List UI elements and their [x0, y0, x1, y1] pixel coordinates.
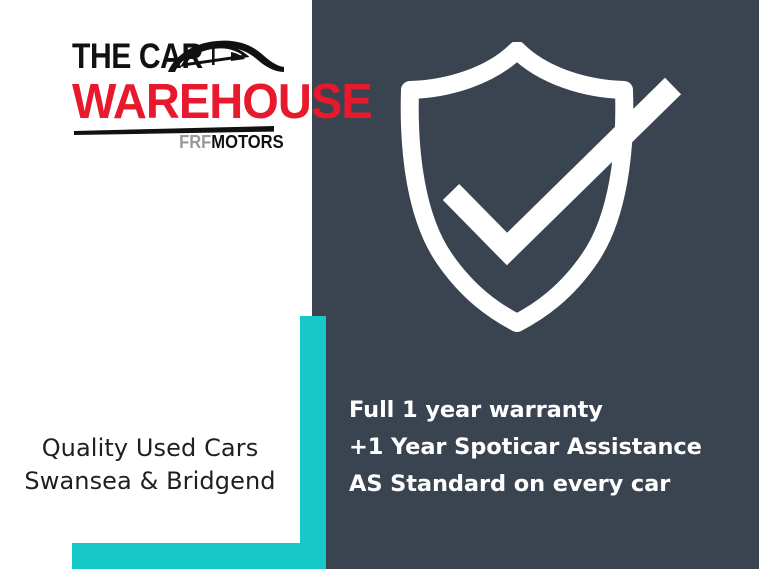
promo-line-3: AS Standard on every car	[349, 466, 749, 503]
logo-motors-text: MOTORS	[212, 132, 284, 152]
logo-top-row: THE CAR	[72, 38, 284, 80]
tagline-block: Quality Used Cars Swansea & Bridgend	[0, 432, 300, 498]
teal-accent-vertical-bar	[300, 316, 326, 569]
tagline-line-2: Swansea & Bridgend	[0, 465, 300, 498]
logo-line-warehouse: WAREHOUSE	[72, 76, 372, 128]
promo-line-1: Full 1 year warranty	[349, 392, 749, 429]
advert-banner: THE CAR WAREHOUSE FRFMOTORS Quality Used…	[0, 0, 759, 569]
promo-line-2: +1 Year Spoticar Assistance	[349, 429, 749, 466]
promo-headline: Full 1 year warranty +1 Year Spoticar As…	[349, 392, 749, 503]
logo-frf-motors: FRFMOTORS	[179, 132, 284, 152]
tagline-line-1: Quality Used Cars	[0, 432, 300, 465]
logo-frf-text: FRF	[179, 132, 211, 152]
brand-logo[interactable]: THE CAR WAREHOUSE FRFMOTORS	[72, 38, 284, 150]
shield-check-icon	[378, 42, 688, 332]
teal-accent-horizontal-bar	[72, 543, 326, 569]
